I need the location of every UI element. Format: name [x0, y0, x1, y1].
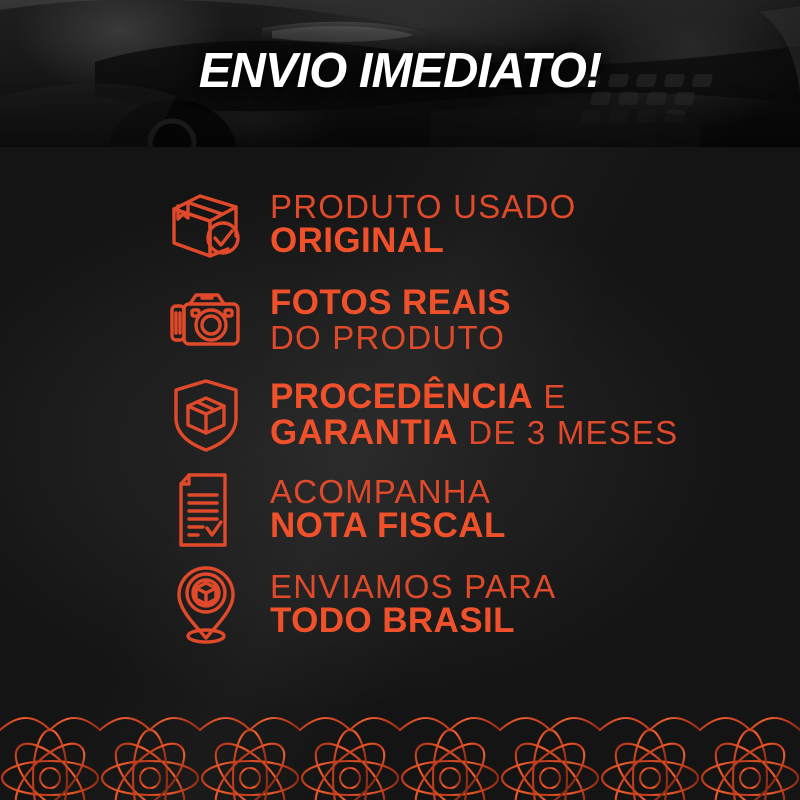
shield-box-icon	[163, 375, 249, 455]
feature-text: PRODUTO USADO ORIGINAL	[270, 190, 577, 259]
feature-line-1: ACOMPANHA	[270, 475, 506, 509]
feature-item-produto-original: PRODUTO USADO ORIGINAL	[0, 177, 800, 272]
promo-banner: ENVIO IMEDIATO!	[0, 0, 800, 800]
feature-line-2: DO PRODUTO	[270, 321, 511, 355]
feature-line-2: TODO BRASIL	[270, 603, 556, 639]
feature-line-2-light: DE 3 MESES	[458, 414, 678, 451]
feature-line-1: PRODUTO USADO	[270, 190, 577, 224]
camera-icon	[163, 280, 249, 360]
feature-item-procedencia-garantia: PROCEDÊNCIA E GARANTIA DE 3 MESES	[0, 367, 800, 462]
feature-line-2: GARANTIA DE 3 MESES	[270, 415, 678, 451]
feature-line-1: ENVIAMOS PARA	[270, 570, 556, 604]
feature-text: ENVIAMOS PARA TODO BRASIL	[270, 570, 556, 639]
feature-item-envio-brasil: ENVIAMOS PARA TODO BRASIL	[0, 557, 800, 652]
feature-line-1-light: E	[533, 378, 567, 415]
feature-line-2: NOTA FISCAL	[270, 508, 506, 544]
feature-line-1: FOTOS REAIS	[270, 285, 511, 321]
feature-item-nota-fiscal: ACOMPANHA NOTA FISCAL	[0, 462, 800, 557]
feature-line-2-bold: GARANTIA	[270, 413, 458, 452]
page-title: ENVIO IMEDIATO!	[0, 43, 800, 99]
feature-list: PRODUTO USADO ORIGINAL	[0, 177, 800, 652]
feature-line-1: PROCEDÊNCIA E	[270, 379, 678, 415]
map-pin-box-icon	[163, 565, 249, 645]
geometric-floral-border	[0, 708, 800, 800]
package-box-check-icon	[163, 185, 249, 265]
feature-text: FOTOS REAIS DO PRODUTO	[270, 285, 511, 354]
feature-text: PROCEDÊNCIA E GARANTIA DE 3 MESES	[270, 379, 678, 450]
feature-item-fotos-reais: FOTOS REAIS DO PRODUTO	[0, 272, 800, 367]
feature-text: ACOMPANHA NOTA FISCAL	[270, 475, 506, 544]
feature-line-1-bold: PROCEDÊNCIA	[270, 377, 533, 416]
features-section: PRODUTO USADO ORIGINAL	[0, 147, 800, 800]
invoice-document-check-icon	[163, 470, 249, 550]
feature-line-2: ORIGINAL	[270, 223, 577, 259]
banner-header: ENVIO IMEDIATO!	[0, 0, 800, 147]
